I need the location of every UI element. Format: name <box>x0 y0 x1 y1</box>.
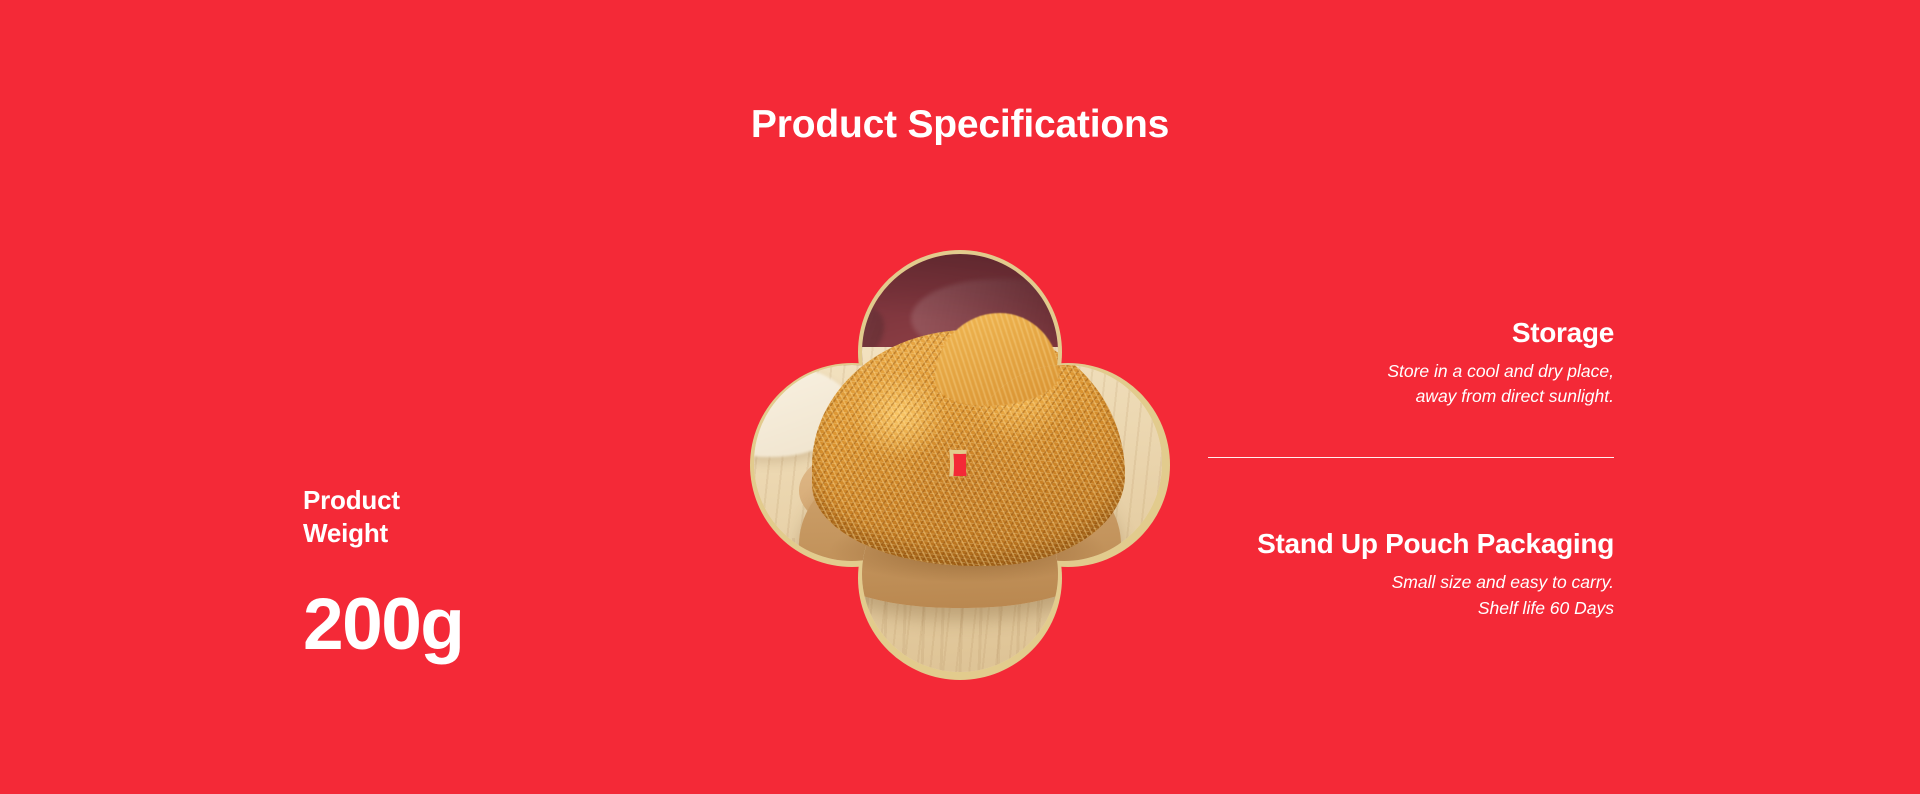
packaging-block: Stand Up Pouch Packaging Small size and … <box>1144 527 1614 621</box>
divider-spacer <box>1144 458 1614 527</box>
storage-line-1: Store in a cool and dry place, <box>1144 359 1614 385</box>
storage-block: Storage Store in a cool and dry place, a… <box>1144 316 1614 410</box>
right-spec-column: Storage Store in a cool and dry place, a… <box>1144 316 1614 622</box>
storage-line-2: away from direct sunlight. <box>1144 384 1614 410</box>
storage-lines: Store in a cool and dry place, away from… <box>1144 359 1614 411</box>
storage-heading: Storage <box>1144 316 1614 350</box>
product-photo-lobe-bottom <box>862 476 1058 672</box>
product-weight-label: Product Weight <box>303 484 633 551</box>
page-title: Product Specifications <box>0 104 1920 147</box>
packaging-line-1: Small size and easy to carry. <box>1144 570 1614 596</box>
product-specifications-panel: Product Specifications Product Weight 20… <box>0 0 1920 794</box>
packaging-lines: Small size and easy to carry. Shelf life… <box>1144 570 1614 622</box>
product-weight-block: Product Weight 200g <box>303 484 633 660</box>
packaging-heading: Stand Up Pouch Packaging <box>1144 527 1614 561</box>
product-weight-value: 200g <box>303 589 633 661</box>
section-divider <box>1208 457 1614 458</box>
product-image-frame <box>750 250 1170 680</box>
product-photo <box>754 254 1166 676</box>
packaging-line-2: Shelf life 60 Days <box>1144 596 1614 622</box>
